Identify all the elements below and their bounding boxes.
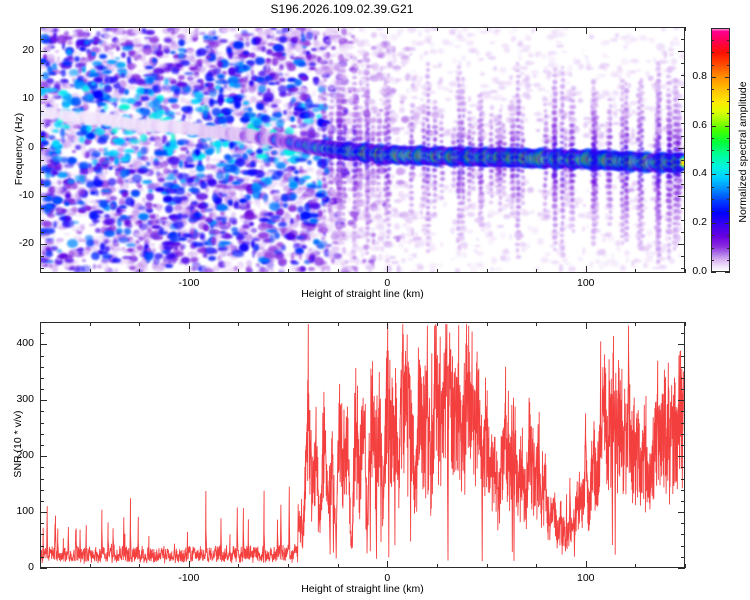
spectrogram-cell <box>347 87 356 92</box>
spectrogram-cell <box>309 203 320 209</box>
spectrogram-cell <box>397 52 406 58</box>
spectrogram-cell <box>207 39 215 45</box>
spectrogram-cell <box>144 136 147 144</box>
spectrogram-cell <box>47 36 56 40</box>
spectrogram-cell <box>135 120 143 132</box>
spectrogram-cell <box>521 152 531 164</box>
spectrogram-cell <box>390 146 401 164</box>
spectrogram-cell <box>179 232 185 237</box>
spectrogram-cell <box>291 155 302 159</box>
spectrogram-cell <box>289 77 295 82</box>
spectrogram-cell <box>327 189 337 197</box>
spectrogram-cell <box>354 103 358 109</box>
spectrogram-cell <box>232 149 236 155</box>
spectrogram-cell <box>411 150 420 161</box>
spectrogram-cell <box>381 77 389 80</box>
spectrogram-cell <box>323 228 326 236</box>
spectrogram-cell <box>278 222 288 227</box>
spectrogram-cell <box>296 179 299 184</box>
spectrogram-cell <box>166 34 176 39</box>
spectrogram-cell <box>45 100 50 107</box>
spectrogram-cell <box>445 153 451 159</box>
spectrogram-cell <box>203 252 209 258</box>
spectrogram-cell <box>510 148 521 166</box>
spectrogram-cell <box>62 140 72 147</box>
spectrogram-cell <box>359 154 364 157</box>
spectrogram-cell <box>491 154 498 161</box>
spectrogram-cell <box>362 149 370 156</box>
spectrogram-cell <box>269 260 272 265</box>
spectrogram-cell <box>102 70 113 74</box>
spectrogram-cell <box>149 219 160 225</box>
spectrogram-cell <box>234 146 240 151</box>
spectrogram-cell <box>279 134 288 147</box>
spectrogram-cell <box>331 213 337 219</box>
spectrogram-cell <box>369 144 373 149</box>
spectrogram-cell <box>271 196 278 204</box>
spectrogram-cell <box>164 160 170 165</box>
spectrogram-cell <box>244 113 249 120</box>
spectrogram-cell <box>317 118 325 127</box>
spectrogram-cell <box>253 169 258 173</box>
spectrogram-cell <box>171 41 176 46</box>
spectrogram-cell <box>303 192 310 195</box>
spectrogram-cell <box>425 130 432 134</box>
spectrogram-cell <box>64 199 72 202</box>
spectrogram-cell <box>261 258 270 264</box>
spectrogram-cell <box>299 150 306 157</box>
spectrogram-cell <box>637 153 650 173</box>
spectrogram-cell <box>200 79 204 88</box>
spectrogram-cell <box>548 151 559 168</box>
spectrogram-cell <box>332 144 341 155</box>
spectrogram-cell <box>660 117 664 122</box>
spectrogram-cell <box>297 206 304 214</box>
spectrogram-cell <box>401 258 406 263</box>
spectrogram-cell <box>270 27 277 30</box>
spectrogram-cell <box>170 63 179 67</box>
spectrogram-cell <box>228 63 235 66</box>
spectrogram-cell <box>45 238 54 241</box>
spectrogram-cell <box>154 36 157 39</box>
spectrogram-cell <box>306 167 314 172</box>
spectrogram-cell <box>57 56 61 63</box>
spectrogram-cell <box>273 194 276 201</box>
spectrogram-cell <box>263 97 273 102</box>
spectrogram-cell <box>188 180 196 183</box>
spectrogram-cell <box>285 135 294 149</box>
spectrogram-cell <box>97 130 104 136</box>
spectrogram-cell <box>156 185 160 190</box>
spectrogram-cell <box>53 198 61 204</box>
spectrogram-cell <box>418 149 427 160</box>
spectrogram-cell <box>184 121 192 133</box>
spectrogram-cell <box>167 141 175 149</box>
spectrogram-cell <box>203 224 209 232</box>
spectrogram-cell <box>431 147 444 166</box>
spectrogram-cell <box>299 39 309 45</box>
spectrogram-cell <box>270 123 279 128</box>
spectrogram-cell <box>229 192 235 197</box>
spectrogram-cell <box>341 153 350 161</box>
spectrogram-cell <box>651 155 661 171</box>
spectrogram-cell <box>506 153 516 165</box>
spectrogram-cell <box>650 157 658 167</box>
spectrogram-cell <box>486 151 494 161</box>
spectrogram-cell <box>150 127 156 133</box>
spectrogram-cell <box>92 151 101 157</box>
spectrogram-cell <box>127 141 132 145</box>
spectrogram-cell <box>257 137 265 145</box>
spectrogram-cell <box>243 220 251 225</box>
spectrogram-cell <box>359 146 366 150</box>
spectrogram-cell <box>170 223 178 231</box>
spectrogram-cell <box>307 140 316 154</box>
spectrogram-cell <box>145 101 149 108</box>
spectrogram-cell <box>147 229 154 235</box>
spectrogram-cell <box>55 258 64 265</box>
spectrogram-cell <box>428 149 438 164</box>
spectrogram-cell <box>273 246 283 249</box>
spectrogram-cell <box>229 217 237 224</box>
spectrogram-cell <box>600 151 613 171</box>
spectrogram-cell <box>581 155 590 166</box>
spectrogram-cell <box>112 139 122 142</box>
spectrogram-cell <box>304 260 311 265</box>
spectrogram-cell <box>295 157 307 162</box>
spectrogram-cell <box>271 227 278 234</box>
spectrogram-cell <box>275 135 282 144</box>
spectrogram-cell <box>213 68 221 75</box>
spectrogram-cell <box>480 153 488 160</box>
spectrogram-cell <box>140 206 148 213</box>
spectrogram-cell <box>378 186 383 192</box>
spectrogram-cell <box>441 152 449 162</box>
spectrogram-cell <box>189 232 198 241</box>
spectrogram-cell <box>100 180 111 188</box>
spectrogram-cell <box>53 95 62 99</box>
spectrogram-cell <box>68 199 75 204</box>
spectrogram-cell <box>283 173 293 180</box>
spectrogram-cell <box>493 66 496 71</box>
spectrogram-cell <box>156 120 164 132</box>
spectrogram-cell <box>336 180 341 187</box>
spectrogram-cell <box>532 149 544 168</box>
spectrogram-cell <box>76 248 84 255</box>
spectrogram-cell <box>224 141 230 147</box>
spectrogram-cell <box>283 36 288 39</box>
spectrogram-cell <box>410 175 415 180</box>
spectrogram-cell <box>84 207 92 211</box>
spectrogram-cell <box>330 92 339 98</box>
spectrogram-cell <box>130 223 137 227</box>
spectrogram-cell <box>290 136 299 151</box>
spectrogram-cell <box>216 163 228 167</box>
spectrogram-cell <box>236 129 244 141</box>
spectrogram-cell <box>314 34 318 41</box>
spectrogram-cell <box>416 145 429 165</box>
spectrogram-cell <box>255 243 262 249</box>
spectrogram-cell <box>68 124 72 131</box>
spectrogram-cell <box>151 116 161 121</box>
spectrogram-cell <box>357 150 363 156</box>
spectrogram-cell <box>348 146 357 157</box>
spectrogram-cell <box>290 254 300 258</box>
spectrogram-cell <box>457 152 465 162</box>
spectrogram-cell <box>393 151 401 159</box>
spectrogram-cell <box>171 145 179 149</box>
spectrogram-cell <box>636 153 648 171</box>
spectrogram-cell <box>97 133 104 140</box>
spectrogram-cell <box>294 132 297 137</box>
spectrogram-cell <box>87 113 95 125</box>
spectrogram-cell <box>289 230 299 238</box>
spectrogram-cell <box>106 113 114 125</box>
spectrogram-cell <box>69 111 77 123</box>
spectrogram-cell <box>572 151 583 168</box>
spectrogram-cell <box>106 67 115 72</box>
spectrogram-cell <box>162 45 170 51</box>
spectrogram-cell <box>263 134 267 138</box>
spectrogram-cell <box>183 207 191 211</box>
spectrogram-cell <box>120 181 124 186</box>
spectrogram-cell <box>194 51 200 56</box>
spectrogram-cell <box>385 150 394 161</box>
spectrogram-cell <box>487 152 496 163</box>
spectrogram-cell <box>623 155 633 167</box>
spectrogram-cell <box>287 137 295 147</box>
spectrogram-cell <box>243 108 253 111</box>
spectrogram-cell <box>176 58 181 65</box>
spectrogram-cell <box>67 157 78 164</box>
spectrogram-cell <box>249 190 258 193</box>
spectrogram-cell <box>233 146 243 153</box>
spectrogram-cell <box>108 178 116 187</box>
spectrogram-cell <box>121 116 129 128</box>
spectrogram-cell <box>101 188 107 196</box>
spectrogram-cell <box>306 143 312 149</box>
spectrogram-cell <box>165 187 177 193</box>
spectrogram-cell <box>55 171 63 174</box>
spectrogram-cell <box>138 55 142 58</box>
spectrogram-cell <box>287 139 294 148</box>
spectrogram-cell <box>359 145 370 163</box>
spectrogram-cell <box>259 213 267 221</box>
spectrogram-cell <box>378 147 389 164</box>
spectrogram-cell <box>143 74 153 77</box>
spectrogram-cell <box>222 207 231 211</box>
spectrogram-cell <box>246 73 249 79</box>
spectrogram-cell <box>246 37 249 41</box>
spectrogram-cell <box>114 243 120 249</box>
spectrogram-cell <box>419 152 426 159</box>
spectrogram-cell <box>299 230 307 234</box>
spectrogram-cell <box>354 269 358 272</box>
spectrogram-cell <box>94 38 102 43</box>
spectrogram-cell <box>69 201 78 205</box>
spectrogram-cell <box>177 223 186 229</box>
spectrogram-cell <box>291 140 297 146</box>
spectrogram-cell <box>132 254 135 260</box>
spectrogram-cell <box>356 130 361 135</box>
spectrogram-cell <box>309 144 315 150</box>
spectrogram-cell <box>352 235 362 238</box>
spectrogram-cell <box>244 212 251 220</box>
spectrogram-cell <box>109 256 113 261</box>
spectrogram-cell <box>95 190 99 196</box>
spectrogram-cell <box>326 167 330 174</box>
spectrogram-cell <box>102 60 108 64</box>
spectrogram-cell <box>390 128 399 131</box>
spectrogram-cell <box>52 265 57 273</box>
spectrogram-cell <box>170 82 178 90</box>
spectrogram-cell <box>178 75 186 80</box>
spectrogram-cell <box>120 37 127 44</box>
spectrogram-cell <box>218 180 227 184</box>
spectrogram-cell <box>174 205 183 211</box>
spectrogram-cell <box>179 123 187 135</box>
spectrogram-cell <box>163 125 172 130</box>
spectrogram-cell <box>140 44 149 51</box>
spectrogram-cell <box>51 151 61 154</box>
spectrogram-cell <box>321 201 326 206</box>
spectrogram-cell <box>51 174 56 178</box>
spectrogram-cell <box>190 145 193 151</box>
spectrogram-cell <box>263 194 268 202</box>
spectrogram-cell <box>122 191 129 199</box>
spectrogram-cell <box>343 162 349 165</box>
spectrogram-cell <box>248 117 254 121</box>
spectrogram-cell <box>146 47 154 55</box>
spectrogram-cell <box>238 97 243 101</box>
spectrogram-cell <box>342 149 348 155</box>
spectrogram-cell <box>96 113 104 125</box>
spectrogram-cell <box>214 222 224 226</box>
spectrogram-cell <box>260 172 270 178</box>
spectrogram-cell <box>177 232 181 238</box>
spectrogram-cell <box>204 97 211 104</box>
spectrogram-cell <box>272 60 280 66</box>
spectrogram-cell <box>391 261 400 264</box>
spectrogram-cell <box>527 150 538 167</box>
spectrogram-cell <box>340 204 343 207</box>
spectrogram-cell <box>108 255 117 263</box>
spectrogram-cell <box>122 158 130 161</box>
spectrogram-cell <box>607 155 616 166</box>
spectrogram-cell <box>358 227 364 233</box>
spectrogram-cell <box>147 123 152 131</box>
spectrogram-cell <box>379 229 386 236</box>
spectrogram-cell <box>285 132 291 138</box>
spectrogram-cell <box>138 220 142 224</box>
spectrogram-cell <box>277 156 286 162</box>
spectrogram-cell <box>92 179 103 187</box>
spectrogram-cell <box>127 169 136 174</box>
spectrogram-cell <box>53 28 61 33</box>
spectrogram-cell <box>421 152 428 159</box>
spectrogram-cell <box>347 142 358 159</box>
spectrogram-cell <box>265 179 268 182</box>
spectrogram-cell <box>330 66 335 71</box>
spectrogram-cell <box>411 86 417 92</box>
spectrogram-cell <box>239 145 247 149</box>
spectrogram-cell <box>68 117 76 123</box>
spectrogram-cell <box>200 174 208 178</box>
spectrogram-cell <box>276 203 286 207</box>
spectrogram-cell <box>152 58 157 63</box>
spectrogram-cell <box>378 73 384 81</box>
spectrogram-cell <box>269 202 280 211</box>
spectrogram-cell <box>375 213 382 220</box>
spectrogram-cell <box>60 109 70 117</box>
spectrogram-cell <box>152 116 158 120</box>
spectrogram-cell <box>506 148 518 167</box>
spectrogram-plot-area[interactable] <box>40 27 685 273</box>
spectrogram-cell <box>630 158 637 165</box>
spectrogram-cell <box>131 119 139 131</box>
spectrogram-cell <box>233 81 242 88</box>
spectrogram-cell <box>93 112 101 124</box>
spectrogram-cell <box>181 60 191 66</box>
spectrogram-cell <box>563 82 571 85</box>
spectrogram-cell <box>537 212 544 217</box>
spectrogram-cell <box>216 217 227 222</box>
spectrogram-cell <box>604 157 612 164</box>
spectrogram-cell <box>319 143 327 153</box>
spectrogram-cell <box>111 44 119 48</box>
spectrogram-cell <box>83 98 87 104</box>
spectrogram-cell <box>170 214 179 222</box>
spectrogram-cell <box>461 147 473 166</box>
spectrogram-cell <box>279 64 284 71</box>
spectrogram-cell <box>336 118 344 125</box>
spectrogram-cell <box>559 155 568 166</box>
spectrogram-cell <box>72 182 77 190</box>
spectrogram-cell <box>357 60 362 63</box>
spectrogram-cell <box>285 174 293 182</box>
spectrogram-cell <box>317 144 325 154</box>
spectrogram-cell <box>57 172 67 178</box>
spectrogram-cell <box>129 124 137 130</box>
spectrogram-cell <box>273 157 279 164</box>
spectrogram-cell <box>193 154 198 157</box>
spectrogram-cell <box>87 52 95 61</box>
spectrogram-cell <box>152 120 160 132</box>
spectrogram-cell <box>253 188 261 194</box>
spectrogram-cell <box>169 156 179 163</box>
spectrogram-cell <box>511 147 524 166</box>
spectrogram-cell <box>53 91 59 94</box>
spectrogram-cell <box>274 243 283 249</box>
spectrogram-cell <box>259 33 264 36</box>
spectrogram-cell <box>169 44 179 50</box>
spectrogram-cell <box>200 142 208 149</box>
spectrogram-cell <box>197 59 202 66</box>
spectrogram-cell <box>276 68 282 75</box>
spectrogram-cell <box>510 152 519 163</box>
spectrogram-cell <box>627 155 637 167</box>
spectrogram-cell <box>151 234 159 238</box>
spectrogram-cell <box>443 150 451 160</box>
spectrogram-cell <box>192 189 199 194</box>
spectrogram-cell <box>285 132 294 135</box>
spectrogram-cell <box>560 153 569 164</box>
spectrogram-cell <box>244 115 248 121</box>
spectrogram-cell <box>117 27 124 33</box>
spectrogram-cell <box>118 237 130 244</box>
spectrogram-cell <box>85 72 94 79</box>
spectrogram-cell <box>317 145 323 151</box>
